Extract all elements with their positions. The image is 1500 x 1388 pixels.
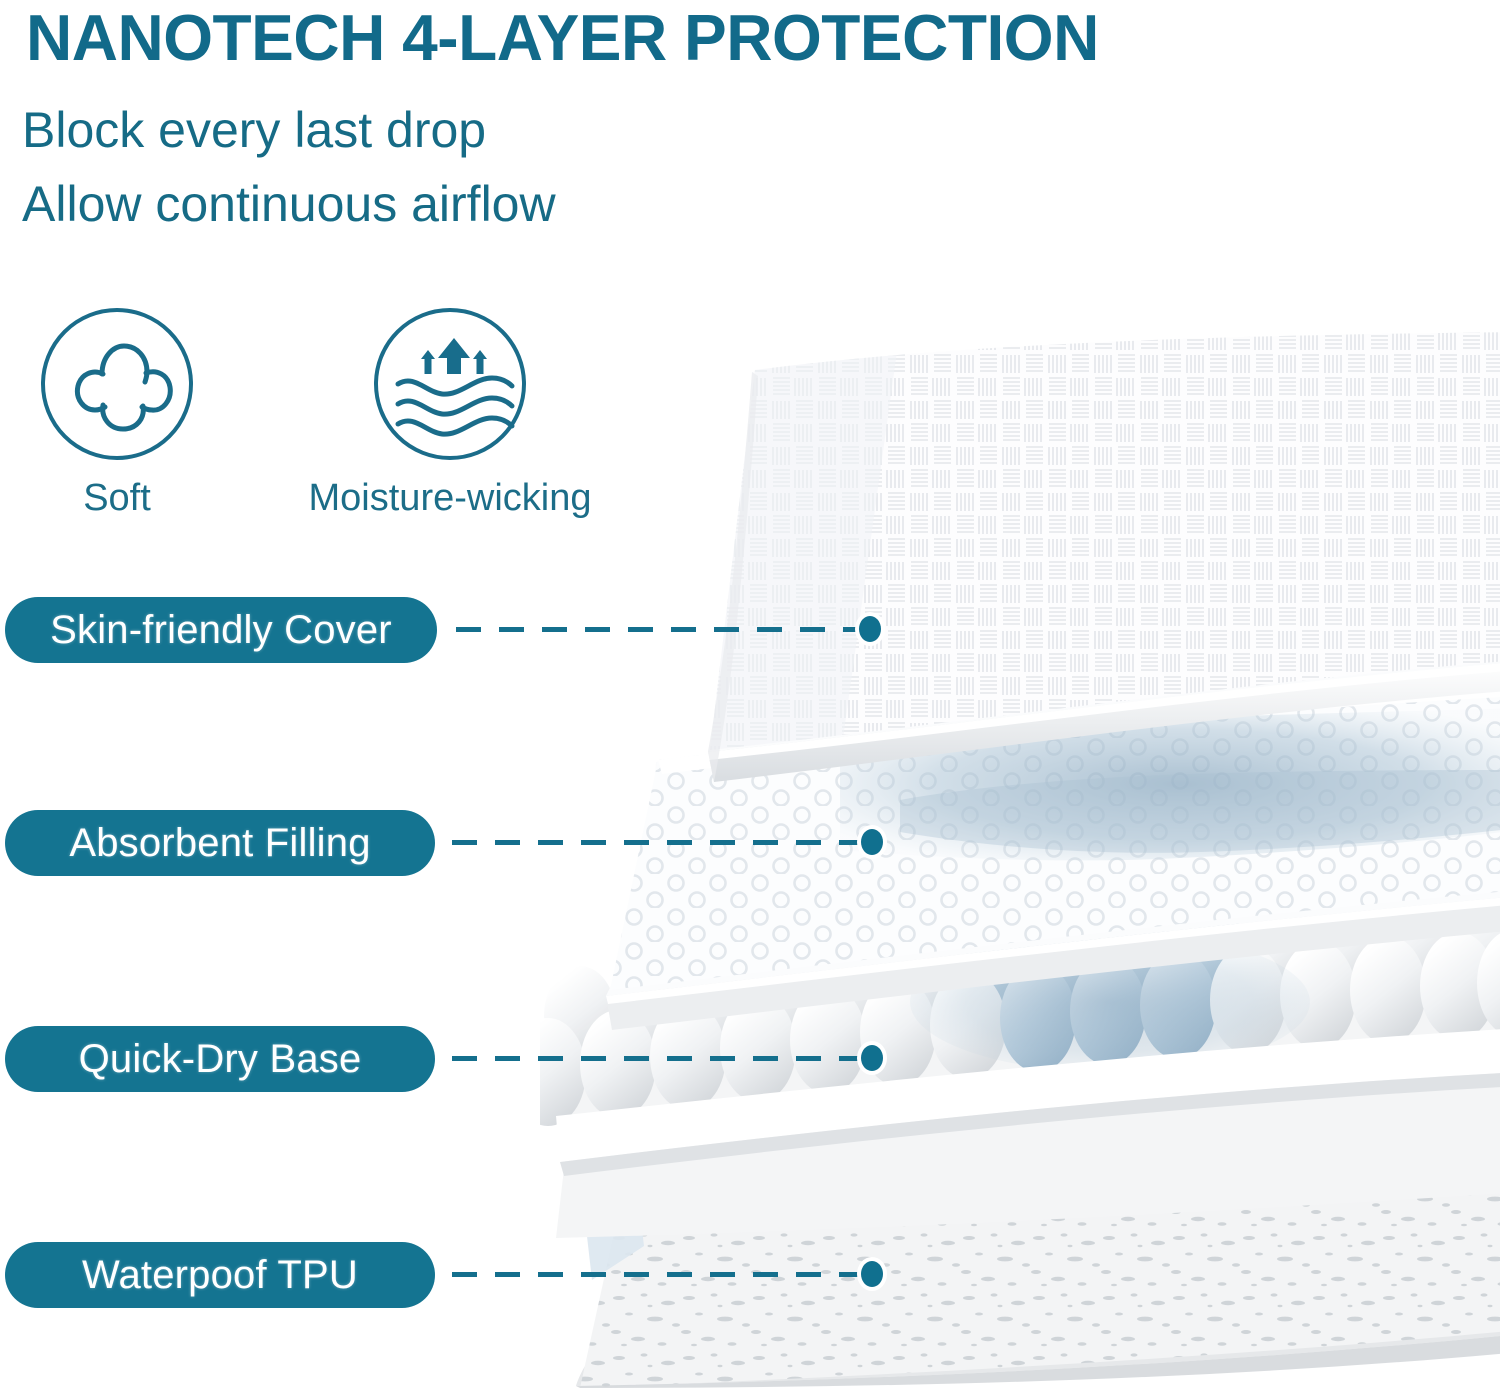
leader-dot-3 [861,1045,883,1071]
feature-soft-label: Soft [27,476,207,520]
leader-line-2 [452,840,864,845]
infographic-page: NANOTECH 4-LAYER PROTECTION Block every … [0,0,1500,1388]
layer-label-quick-dry-base[interactable]: Quick-Dry Base [5,1026,435,1092]
subheading-allow-continuous-airflow: Allow continuous airflow [22,176,556,232]
leader-dot-4 [861,1261,883,1287]
cloud-icon [41,308,193,460]
leader-dot-2 [861,829,883,855]
layer-label-waterproof-tpu[interactable]: Waterpoof TPU [5,1242,435,1308]
page-title: NANOTECH 4-LAYER PROTECTION [26,2,1454,74]
leader-line-4 [452,1272,864,1277]
leader-line-3 [452,1056,864,1061]
subheading-block-every-last-drop: Block every last drop [22,102,486,158]
moisture-wicking-icon [374,308,526,460]
leader-line-1 [456,627,856,632]
leader-dot-1 [859,616,881,642]
feature-soft: Soft [27,308,207,520]
layer-label-absorbent-filling[interactable]: Absorbent Filling [5,810,435,876]
layer-label-skin-friendly-cover[interactable]: Skin-friendly Cover [5,597,437,663]
exploded-layer-illustration [540,330,1500,1388]
